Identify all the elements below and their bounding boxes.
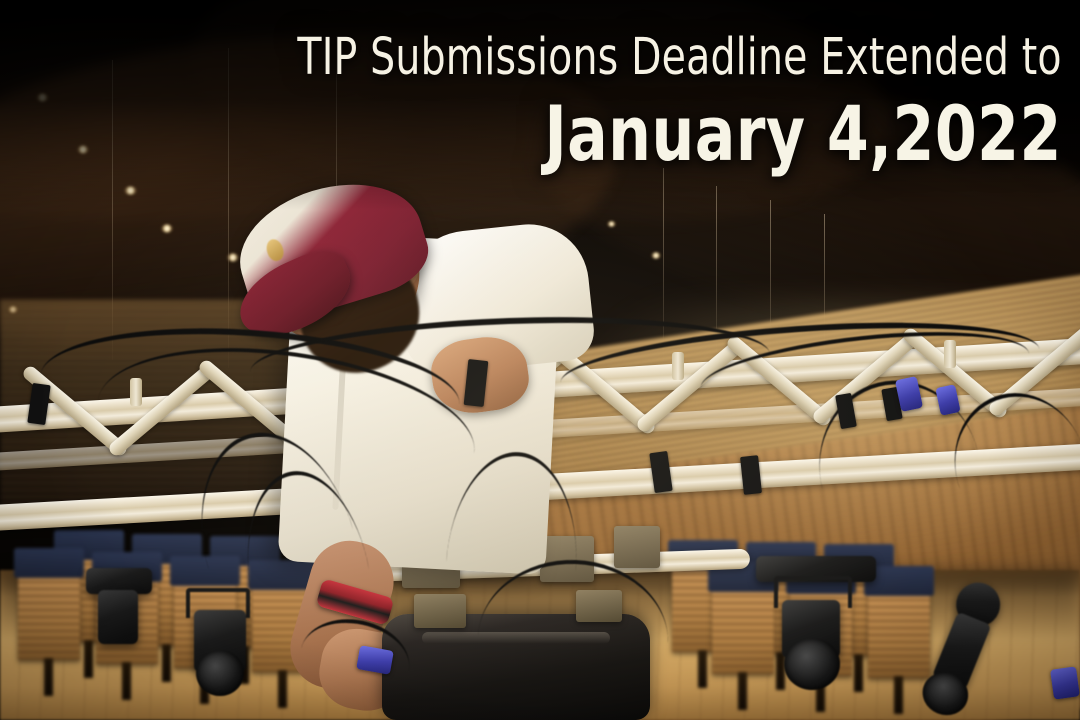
seat-leg [738, 672, 747, 710]
ceiling-spotlight [651, 252, 661, 259]
headline-line-1: TIP Submissions Deadline Extended to [298, 30, 1062, 86]
seat-back [712, 588, 774, 674]
seat-leg [894, 676, 903, 714]
velcro-strap [740, 455, 762, 495]
promo-banner: TIP Submissions Deadline Extended to Jan… [0, 0, 1080, 720]
truss-clamp-plate [614, 526, 660, 568]
seat-leg [44, 658, 53, 696]
ceiling-spotlight [161, 224, 173, 233]
ceiling-spotlight [77, 145, 89, 154]
seat-leg [698, 650, 707, 688]
seat-leg [278, 670, 287, 708]
seat-leg [162, 644, 171, 682]
seat-back [868, 592, 930, 678]
ceiling-spotlight [124, 186, 137, 195]
seat-leg [854, 654, 863, 692]
seat-leg [84, 640, 93, 678]
blue-cable-connector [1050, 666, 1080, 699]
seat-back [18, 574, 80, 660]
headline-line-2: January 4,2022 [280, 92, 1062, 176]
ceiling-spotlight [36, 93, 49, 102]
headline-block: TIP Submissions Deadline Extended to Jan… [173, 30, 1062, 176]
seat-leg [122, 662, 131, 700]
ceiling-spotlight [607, 221, 616, 227]
